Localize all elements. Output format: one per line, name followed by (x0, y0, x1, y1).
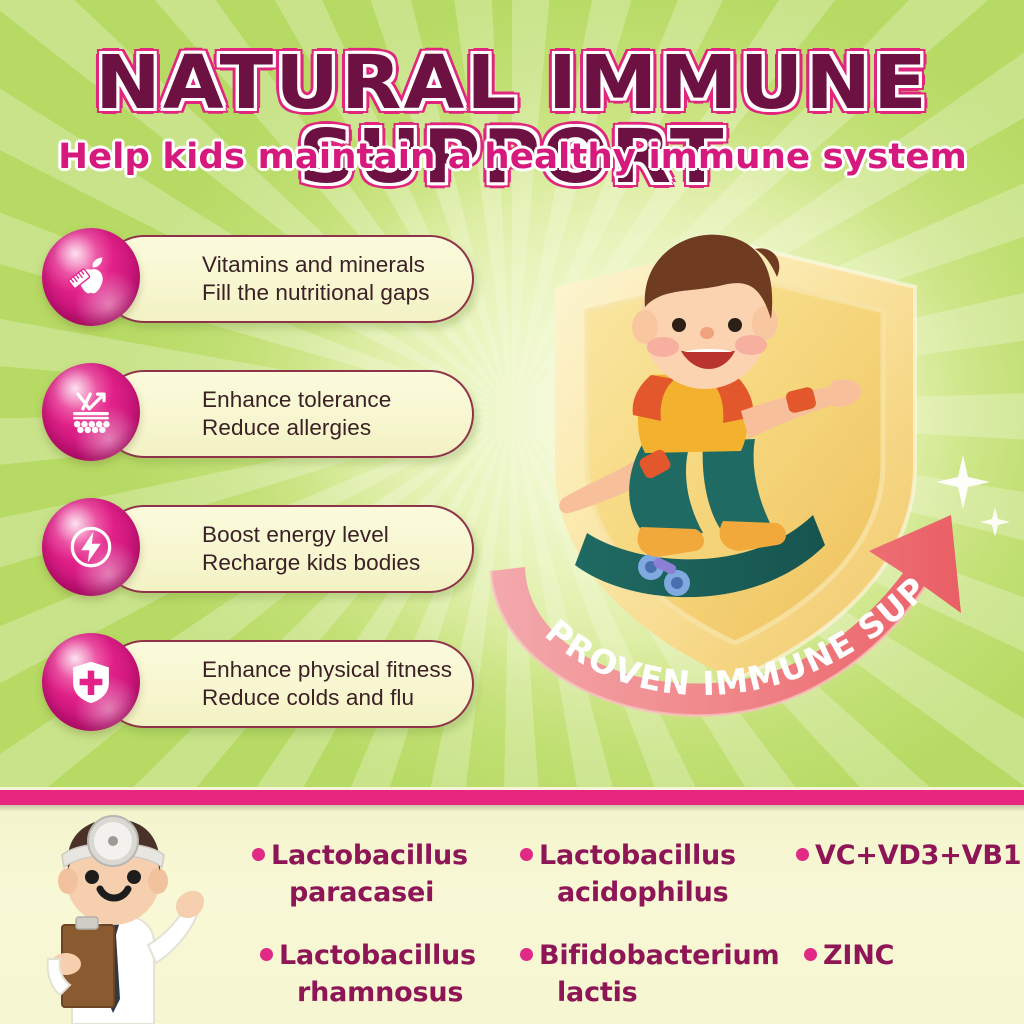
ingredient-line-1: Lactobacillus (271, 837, 468, 874)
bullet-dot-icon (252, 848, 265, 861)
bullet-dot-icon (520, 848, 533, 861)
ingredient-item-1: Lactobacillus acidophilus (520, 837, 736, 912)
skin-barrier-icon (42, 363, 140, 461)
feature-pill: Enhance physical fitness Reduce colds an… (100, 640, 474, 728)
feature-list: Vitamins and minerals Fill the nutrition… (42, 228, 442, 768)
feature-pill: Boost energy level Recharge kids bodies (100, 505, 474, 593)
ingredient-line-1: Lactobacillus (539, 837, 736, 874)
ingredient-text: VC+VD3+VB1 (815, 837, 1021, 874)
ingredient-item-3: Lactobacillus rhamnosus (260, 937, 476, 1012)
feature-line-2: Reduce colds and flu (202, 684, 452, 712)
lightning-energy-icon (42, 498, 140, 596)
ingredient-text: Lactobacillus paracasei (271, 837, 468, 912)
feature-pill: Enhance tolerance Reduce allergies (100, 370, 474, 458)
feature-text: Boost energy level Recharge kids bodies (202, 521, 420, 577)
feature-line-2: Reduce allergies (202, 414, 391, 442)
shield-cross-icon (42, 633, 140, 731)
ingredient-line-1: VC+VD3+VB1 (815, 837, 1021, 874)
feature-line-1: Boost energy level (202, 521, 420, 549)
ingredient-item-5: ZINC (804, 937, 894, 974)
feature-line-1: Vitamins and minerals (202, 251, 430, 279)
ingredient-list: Lactobacillus paracasei Lactobacillus ac… (252, 831, 1024, 1021)
ingredient-line-1: ZINC (823, 937, 894, 974)
bullet-dot-icon (796, 848, 809, 861)
feature-text: Enhance tolerance Reduce allergies (202, 386, 391, 442)
doctor-mascot (12, 811, 242, 1024)
ingredient-text: Bifidobacterium lactis (539, 937, 779, 1012)
feature-text: Enhance physical fitness Reduce colds an… (202, 656, 452, 712)
ingredient-text: Lactobacillus acidophilus (539, 837, 736, 912)
feature-line-2: Recharge kids bodies (202, 549, 420, 577)
feature-pill: Vitamins and minerals Fill the nutrition… (100, 235, 474, 323)
bullet-dot-icon (260, 948, 273, 961)
apple-nutrition-icon (42, 228, 140, 326)
ingredient-item-0: Lactobacillus paracasei (252, 837, 468, 912)
feature-text: Vitamins and minerals Fill the nutrition… (202, 251, 430, 307)
ingredient-line-1: Lactobacillus (279, 937, 476, 974)
ingredient-line-2: lactis (539, 974, 779, 1011)
page-subtitle-wrapper: Help kids maintain a healthy immune syst… (0, 140, 1024, 175)
feature-line-1: Enhance physical fitness (202, 656, 452, 684)
feature-line-1: Enhance tolerance (202, 386, 391, 414)
ingredient-line-2: paracasei (271, 874, 468, 911)
ingredient-line-2: rhamnosus (279, 974, 476, 1011)
divider-pink-bar (0, 790, 1024, 805)
feature-item-energy[interactable]: Boost energy level Recharge kids bodies (42, 498, 442, 596)
bullet-dot-icon (520, 948, 533, 961)
section-divider (0, 787, 1024, 811)
feature-line-2: Fill the nutritional gaps (202, 279, 430, 307)
feature-item-fitness[interactable]: Enhance physical fitness Reduce colds an… (42, 633, 442, 731)
immune-support-poster: NATURAL IMMUNE SUPPORT Help kids maintai… (0, 0, 1024, 1024)
ingredients-panel: Lactobacillus paracasei Lactobacillus ac… (0, 811, 1024, 1024)
ingredient-text: ZINC (823, 937, 894, 974)
page-subtitle: Help kids maintain a healthy immune syst… (58, 140, 967, 175)
shield-hero-illustration: PROVEN IMMUNE SUPPORT (455, 215, 1015, 735)
ingredient-item-2: VC+VD3+VB1 (796, 837, 1021, 874)
ingredient-item-4: Bifidobacterium lactis (520, 937, 779, 1012)
ingredient-text: Lactobacillus rhamnosus (279, 937, 476, 1012)
ingredient-line-1: Bifidobacterium (539, 937, 779, 974)
ingredient-line-2: acidophilus (539, 874, 736, 911)
bullet-dot-icon (804, 948, 817, 961)
feature-item-vitamins[interactable]: Vitamins and minerals Fill the nutrition… (42, 228, 442, 326)
feature-item-tolerance[interactable]: Enhance tolerance Reduce allergies (42, 363, 442, 461)
